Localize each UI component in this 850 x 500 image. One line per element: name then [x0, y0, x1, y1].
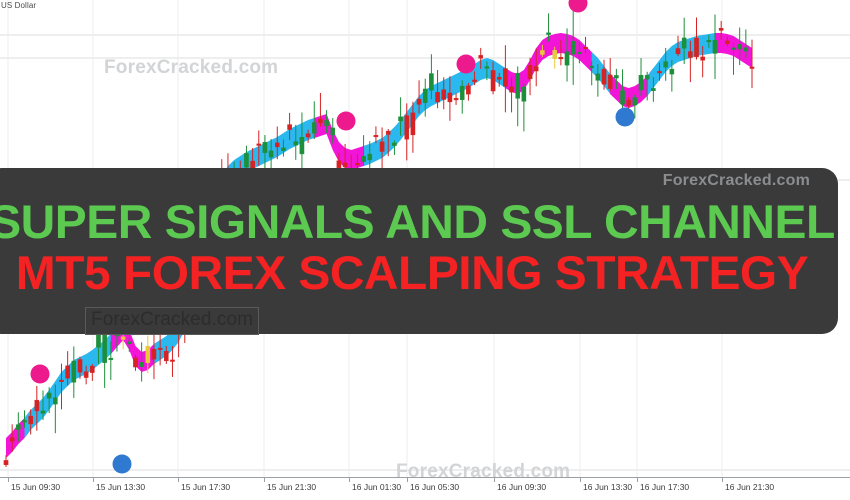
- x-axis-tick-label: 16 Jun 21:30: [725, 482, 774, 492]
- candle-body: [355, 163, 359, 165]
- candle-body: [294, 142, 298, 146]
- candle-body: [651, 88, 655, 90]
- x-axis-tick-label: 16 Jun 13:30: [583, 482, 632, 492]
- candle-body: [127, 342, 131, 344]
- candle-body: [269, 151, 273, 157]
- candle-body: [701, 57, 705, 60]
- candle-body: [368, 154, 372, 160]
- candle-body: [540, 50, 544, 54]
- candle-body: [10, 438, 14, 442]
- candle-body: [571, 41, 575, 54]
- candle-body: [583, 47, 587, 49]
- candle-body: [4, 460, 8, 464]
- candle-body: [546, 33, 550, 35]
- watermark-panel-top-right: ForexCracked.com: [663, 172, 810, 190]
- candle-body: [602, 69, 606, 84]
- candle-body: [719, 28, 723, 30]
- x-axis-tick: [349, 477, 350, 482]
- candle-body: [411, 113, 415, 135]
- candle-body: [53, 398, 57, 404]
- x-axis: 15 Jun 09:3015 Jun 13:3015 Jun 17:3015 J…: [0, 477, 850, 500]
- x-axis-tick: [580, 477, 581, 482]
- candle-body: [398, 117, 402, 121]
- candle-body: [109, 358, 113, 360]
- candle-body: [84, 372, 88, 378]
- candle-body: [744, 48, 748, 52]
- candle-body: [29, 416, 33, 424]
- candle-body: [244, 153, 248, 167]
- x-axis-tick-label: 16 Jun 17:30: [640, 482, 689, 492]
- candle-body: [577, 52, 581, 54]
- candle-body: [103, 334, 107, 363]
- candle-body: [460, 86, 464, 100]
- x-axis-tick: [93, 477, 94, 482]
- candle-body: [275, 143, 279, 147]
- sell-signal-dot: [457, 55, 476, 74]
- candle-body: [645, 75, 649, 79]
- x-axis-tick: [722, 477, 723, 482]
- x-axis-tick: [264, 477, 265, 482]
- candle-body: [423, 89, 427, 103]
- x-axis-tick-label: 15 Jun 21:30: [267, 482, 316, 492]
- candle-body: [528, 65, 532, 78]
- candle-body: [503, 69, 507, 87]
- candle-body: [386, 131, 390, 134]
- candle-body: [485, 67, 489, 69]
- sell-signal-dot: [337, 112, 356, 131]
- x-axis-tick-label: 16 Jun 05:30: [410, 482, 459, 492]
- candle-body: [324, 120, 328, 125]
- candle-body: [596, 74, 600, 80]
- candle-body: [152, 349, 156, 359]
- candle-body: [670, 69, 674, 74]
- candle-body: [392, 143, 396, 146]
- sell-signal-dot: [31, 365, 50, 384]
- candle-body: [429, 74, 433, 91]
- candle-body: [694, 38, 698, 57]
- candle-body: [288, 125, 292, 130]
- x-axis-tick: [637, 477, 638, 482]
- candle-body: [331, 128, 335, 135]
- candle-body: [750, 67, 754, 69]
- candle-body: [639, 75, 643, 90]
- candle-body: [164, 351, 168, 361]
- candle-body: [121, 337, 125, 340]
- candle-body: [417, 99, 421, 104]
- candle-body: [688, 52, 692, 58]
- candle-body: [343, 163, 347, 167]
- candle-body: [633, 98, 637, 105]
- candle-body: [78, 359, 82, 372]
- candle-body: [306, 134, 310, 137]
- candle-body: [553, 50, 557, 58]
- candle-body: [725, 41, 729, 44]
- candle-body: [559, 57, 563, 59]
- candle-body: [448, 93, 452, 102]
- candle-body: [374, 135, 378, 137]
- candle-body: [676, 48, 680, 53]
- candle-body: [472, 80, 476, 82]
- forex-chart-screenshot: US Dollar ForexCracked.com ForexCracked.…: [0, 0, 850, 500]
- candle-body: [59, 380, 63, 382]
- candle-body: [627, 100, 631, 105]
- candle-body: [713, 40, 717, 53]
- candle-body: [522, 87, 526, 101]
- candle-body: [608, 75, 612, 89]
- candle-body: [16, 425, 20, 430]
- candle-body: [337, 161, 341, 168]
- candle-body: [133, 358, 137, 367]
- candle-body: [435, 92, 439, 102]
- candle-body: [66, 366, 70, 379]
- candle-body: [41, 411, 45, 414]
- x-axis-tick-label: 16 Jun 01:30: [352, 482, 401, 492]
- candle-body: [707, 40, 711, 42]
- candle-body: [405, 116, 409, 140]
- sell-signal-dot: [569, 0, 588, 13]
- overlay-title-line-1: SUPER SIGNALS AND SSL CHANNEL: [0, 198, 847, 245]
- candle-body: [35, 400, 39, 411]
- candle-body: [140, 362, 144, 366]
- candle-body: [614, 75, 618, 78]
- x-axis-tick-label: 15 Jun 09:30: [11, 482, 60, 492]
- x-axis-tick-label: 16 Jun 09:30: [497, 482, 546, 492]
- candle-body: [312, 122, 316, 133]
- buy-signal-dot: [616, 108, 635, 127]
- candle-body: [90, 366, 94, 373]
- candle-body: [300, 137, 304, 154]
- candle-body: [361, 156, 365, 161]
- candle-body: [534, 67, 538, 71]
- candle-body: [479, 55, 483, 58]
- watermark-boxed: ForexCracked.com: [85, 307, 259, 335]
- candle-body: [509, 87, 513, 92]
- overlay-title-line-2: MT5 FOREX SCALPING STRATEGY: [0, 249, 847, 296]
- candle-body: [170, 360, 174, 362]
- candle-body: [516, 73, 520, 98]
- candle-body: [380, 142, 384, 152]
- candle-body: [281, 148, 285, 151]
- candle-body: [47, 393, 51, 398]
- candle-body: [731, 48, 735, 50]
- x-axis-tick-label: 15 Jun 13:30: [96, 482, 145, 492]
- candle-body: [491, 70, 495, 91]
- candle-body: [664, 62, 668, 68]
- candle-body: [620, 91, 624, 104]
- candle-body: [22, 420, 26, 422]
- candle-body: [96, 334, 100, 348]
- candle-body: [738, 44, 742, 49]
- candle-body: [158, 348, 162, 350]
- candle-body: [263, 142, 267, 152]
- candle-body: [590, 66, 594, 68]
- x-axis-tick: [8, 477, 9, 482]
- x-axis-tick-label: 15 Jun 17:30: [181, 482, 230, 492]
- candle-body: [442, 90, 446, 100]
- symbol-caption: US Dollar: [1, 1, 36, 10]
- candle-body: [497, 77, 501, 79]
- candle-body: [682, 38, 686, 48]
- x-axis-tick: [178, 477, 179, 482]
- watermark-upper-left: ForexCracked.com: [104, 57, 278, 79]
- candle-body: [146, 346, 150, 363]
- candle-body: [657, 71, 661, 73]
- candle-body: [466, 86, 470, 94]
- candle-body: [565, 52, 569, 65]
- candle-body: [454, 98, 458, 100]
- x-axis-tick: [494, 477, 495, 482]
- candle-body: [318, 119, 322, 123]
- candle-body: [257, 144, 261, 146]
- x-axis-tick: [407, 477, 408, 482]
- buy-signal-dot: [113, 455, 132, 474]
- candle-body: [72, 361, 76, 382]
